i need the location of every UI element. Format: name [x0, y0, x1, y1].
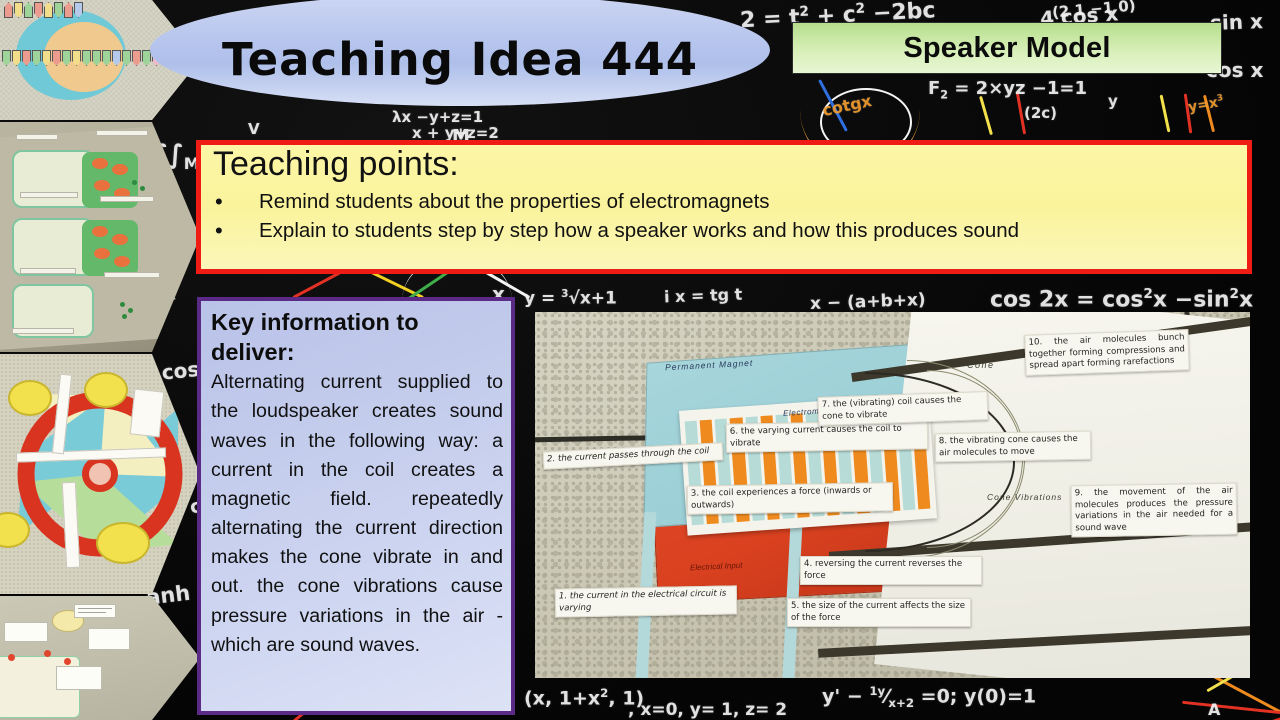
photo-label-10-text: 10. — [1028, 337, 1042, 347]
background-formula-29: (2c) — [1024, 104, 1057, 122]
key-information-body: Alternating current supplied to the loud… — [211, 368, 503, 660]
photo-label-10-body: the air molecules bunch together forming… — [1029, 332, 1185, 371]
photo-label-1-body: the current in the electrical circuit is… — [559, 589, 726, 614]
photo-strip-phloem-diagram — [0, 122, 200, 352]
photo-label-1-text: 1. — [559, 591, 567, 601]
photo-label-5: 5. the size of the current affects the s… — [787, 598, 971, 627]
background-formula-24: , x=0, y= 1, z= 2 — [628, 700, 787, 720]
teaching-point-item: Explain to students step by step how a s… — [201, 216, 1247, 245]
page-title: Teaching Idea 444 — [200, 22, 720, 96]
background-formula-17: x − (a+b+x) — [810, 290, 926, 314]
teaching-points-heading: Teaching points: — [201, 145, 1247, 181]
teaching-points-box: Teaching points: Remind students about t… — [196, 140, 1252, 274]
background-formula-23: (x, 1+x2, 1) — [524, 686, 644, 709]
photo-strip-photosynthesis-worksheet — [0, 596, 200, 720]
background-formula-10: y=x3 — [1187, 93, 1225, 116]
speaker-model-photograph: Electrical Input Permanent Magnet Cone C… — [535, 312, 1250, 678]
background-formula-6: F2 = 2×yz −1=1 — [928, 78, 1087, 102]
photo-label-9-body: the movement of the air molecules produc… — [1075, 486, 1233, 534]
background-formula-26: A — [1208, 700, 1220, 719]
photo-label-9: 9. the movement of the air molecules pro… — [1071, 483, 1238, 538]
photo-label-8-text: 8. — [939, 436, 947, 446]
background-formula-16: i x = tg t — [664, 285, 743, 307]
photo-label-1: 1. the current in the electrical circuit… — [555, 585, 737, 617]
photo-label-7-body: the (vibrating) coil causes the cone to … — [822, 395, 961, 421]
chalk-triangle-red — [1211, 681, 1280, 720]
chalk-line-yellow-b — [979, 96, 993, 135]
photo-label-6-text: 6. — [730, 427, 738, 437]
photo-label-5-body: the size of the current affects the size… — [791, 601, 965, 623]
photo-label-10: 10. the air molecules bunch together for… — [1024, 329, 1189, 375]
slide-canvas: 2 = t2 + c2 −2bc4 cos xsin xcos x(2 1 −1… — [0, 0, 1280, 720]
photo-label-7: 7. the (vibrating) coil causes the cone … — [818, 391, 989, 426]
photo-strip-cycle-wheel — [0, 354, 200, 594]
photo-label-3-text: 3. — [691, 489, 699, 499]
background-formula-18: cos 2x = cos2x −sin2x — [990, 286, 1253, 312]
topic-badge: Speaker Model — [792, 22, 1222, 74]
photo-label-4-body: reversing the current reverses the force — [804, 559, 962, 581]
photo-label-5-text: 5. — [791, 601, 799, 611]
topic-badge-label: Speaker Model — [903, 32, 1110, 65]
teaching-point-item: Remind students about the properties of … — [201, 187, 1247, 216]
photo-label-3-body: the coil experiences a force (inwards or… — [691, 486, 872, 511]
photo-label-9-text: 9. — [1075, 488, 1083, 498]
photo-label-6-body: the varying current causes the coil to v… — [730, 424, 902, 449]
key-information-heading: Key information to deliver: — [211, 307, 503, 367]
photo-label-4-text: 4. — [804, 559, 812, 569]
background-formula-15: y = 3√x+1 — [524, 288, 617, 309]
photo-label-3: 3. the coil experiences a force (inwards… — [687, 482, 893, 515]
photo-label-8: 8. the vibrating cone causes the air mol… — [935, 431, 1091, 463]
left-photo-strip-column — [0, 0, 200, 720]
chalk-line-yellow-c — [1160, 95, 1171, 133]
photo-label-4: 4. reversing the current reverses the fo… — [800, 556, 982, 585]
background-formula-31: V — [248, 120, 260, 138]
handwritten-label-cone: Cone — [967, 360, 995, 370]
photo-label-7-text: 7. — [822, 400, 831, 410]
background-formula-25: y' − 1y⁄x+2 =0; y(0)=1 — [822, 684, 1036, 710]
key-information-box: Key information to deliver: Alternating … — [197, 297, 515, 715]
photo-label-8-body: the vibrating cone causes the air molecu… — [939, 434, 1078, 458]
background-formula-28: y — [1108, 92, 1118, 110]
handwritten-label-cone-vibrations: Cone Vibrations — [987, 492, 1062, 503]
photo-label-2-text: 2. — [547, 454, 556, 464]
teaching-points-list: Remind students about the properties of … — [201, 187, 1247, 245]
